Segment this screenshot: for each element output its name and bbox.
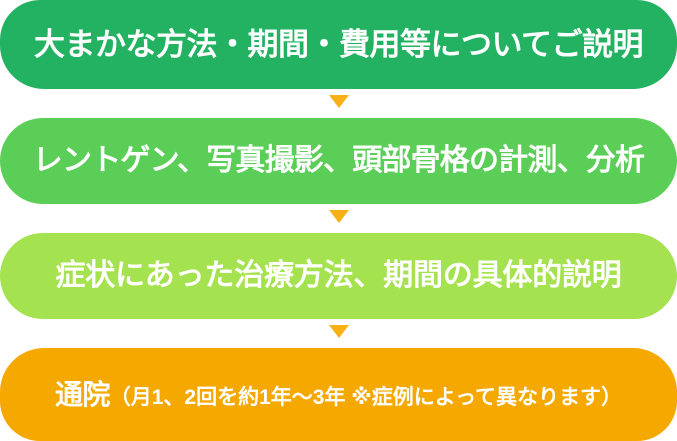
flow-arrow-1: [0, 94, 677, 108]
triangle-down-icon: [329, 325, 349, 338]
flowchart-container: 大まかな方法・期間・費用等についてご説明 レントゲン、写真撮影、頭部骨格の計測、…: [0, 0, 677, 441]
flow-step-2-label: レントゲン、写真撮影、頭部骨格の計測、分析: [33, 146, 644, 176]
flow-step-4-main-text: 通院: [55, 379, 110, 410]
flow-step-4: 通院（月1、2回を約1年～3年 ※症例によって異なります）: [0, 348, 677, 441]
triangle-down-icon: [329, 95, 349, 108]
flow-step-4-sub-text: （月1、2回を約1年～3年 ※症例によって異なります）: [110, 386, 622, 409]
flow-step-2: レントゲン、写真撮影、頭部骨格の計測、分析: [0, 118, 677, 204]
flow-arrow-2: [0, 209, 677, 223]
flow-step-1: 大まかな方法・期間・費用等についてご説明: [0, 0, 677, 89]
flow-arrow-3: [0, 324, 677, 338]
flow-step-3: 症状にあった治療方法、期間の具体的説明: [0, 233, 677, 319]
flow-step-1-label: 大まかな方法・期間・費用等についてご説明: [34, 29, 643, 60]
flow-step-3-label: 症状にあった治療方法、期間の具体的説明: [55, 261, 621, 291]
flow-step-4-label: 通院（月1、2回を約1年～3年 ※症例によって異なります）: [55, 381, 622, 409]
triangle-down-icon: [329, 210, 349, 223]
